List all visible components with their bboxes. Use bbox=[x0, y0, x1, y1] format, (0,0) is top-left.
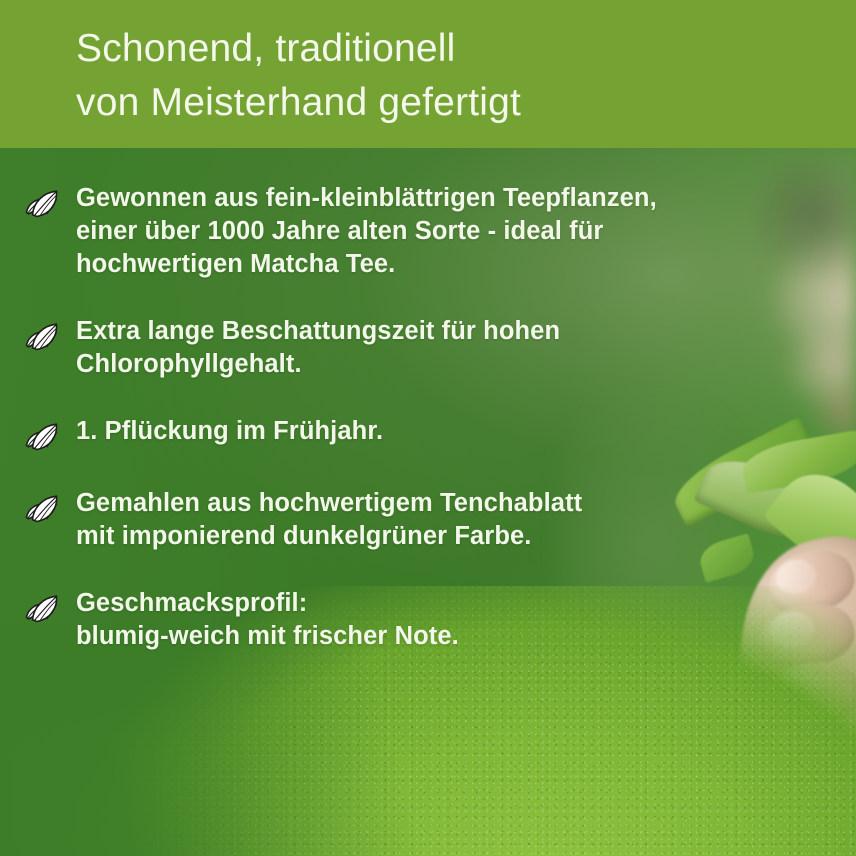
tea-leaf-icon bbox=[22, 319, 64, 353]
tea-leaf-icon bbox=[22, 591, 64, 625]
list-item: 1. Pflückung im Frühjahr. bbox=[0, 415, 856, 453]
list-item-label: Extra lange Beschattungszeit für hohen C… bbox=[76, 315, 560, 381]
list-item-label: Geschmacksprofil: blumig-weich mit frisc… bbox=[76, 587, 459, 653]
tea-leaf-icon bbox=[22, 186, 64, 220]
list-item-label: Gewonnen aus fein-kleinblättrigen Teepfl… bbox=[76, 182, 657, 281]
tea-leaf-icon bbox=[22, 419, 64, 453]
matcha-info-graphic: Schonend, traditionell von Meisterhand g… bbox=[0, 0, 856, 856]
list-item: Geschmacksprofil: blumig-weich mit frisc… bbox=[0, 587, 856, 653]
list-item: Gemahlen aus hochwertigem Tenchablatt mi… bbox=[0, 487, 856, 553]
tea-leaf-icon bbox=[22, 491, 64, 525]
list-item-label: 1. Pflückung im Frühjahr. bbox=[76, 415, 383, 448]
page-title: Schonend, traditionell von Meisterhand g… bbox=[76, 22, 521, 130]
feature-list: Gewonnen aus fein-kleinblättrigen Teepfl… bbox=[0, 148, 856, 687]
header-band: Schonend, traditionell von Meisterhand g… bbox=[0, 0, 856, 148]
list-item-label: Gemahlen aus hochwertigem Tenchablatt mi… bbox=[76, 487, 582, 553]
list-item: Extra lange Beschattungszeit für hohen C… bbox=[0, 315, 856, 381]
list-item: Gewonnen aus fein-kleinblättrigen Teepfl… bbox=[0, 182, 856, 281]
